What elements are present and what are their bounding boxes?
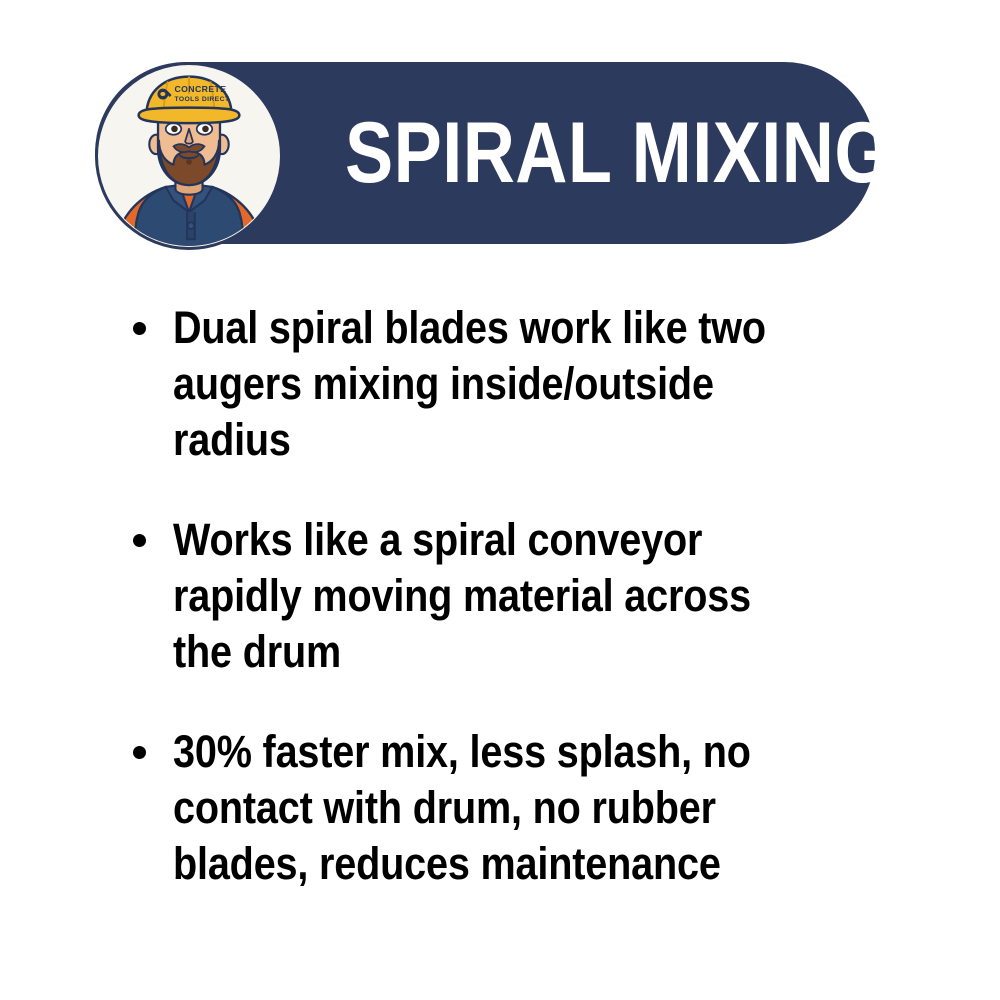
list-item: Works like a spiral conveyor rapidly mov… xyxy=(133,512,863,680)
helmet-logo-line2: TOOLS DIRECT xyxy=(174,96,229,103)
list-item: Dual spiral blades work like two augers … xyxy=(133,300,863,468)
bullet-text: Works like a spiral conveyor rapidly mov… xyxy=(173,512,780,680)
bullet-dot-icon xyxy=(133,512,173,547)
feature-bullet-list: Dual spiral blades work like two augers … xyxy=(133,300,863,892)
page-title: SPIRAL MIXING xyxy=(345,62,782,244)
bullet-dot-icon xyxy=(133,724,173,759)
list-item: 30% faster mix, less splash, no contact … xyxy=(133,724,863,892)
helmet-logo-line1: CONCRETE xyxy=(174,84,226,94)
avatar: CONCRETE TOOLS DIRECT xyxy=(95,62,283,250)
bullet-dot-icon xyxy=(133,300,173,335)
bullet-text: 30% faster mix, less splash, no contact … xyxy=(173,724,780,892)
avatar-illustration: CONCRETE TOOLS DIRECT xyxy=(98,65,280,247)
bullet-text: Dual spiral blades work like two augers … xyxy=(173,300,780,468)
